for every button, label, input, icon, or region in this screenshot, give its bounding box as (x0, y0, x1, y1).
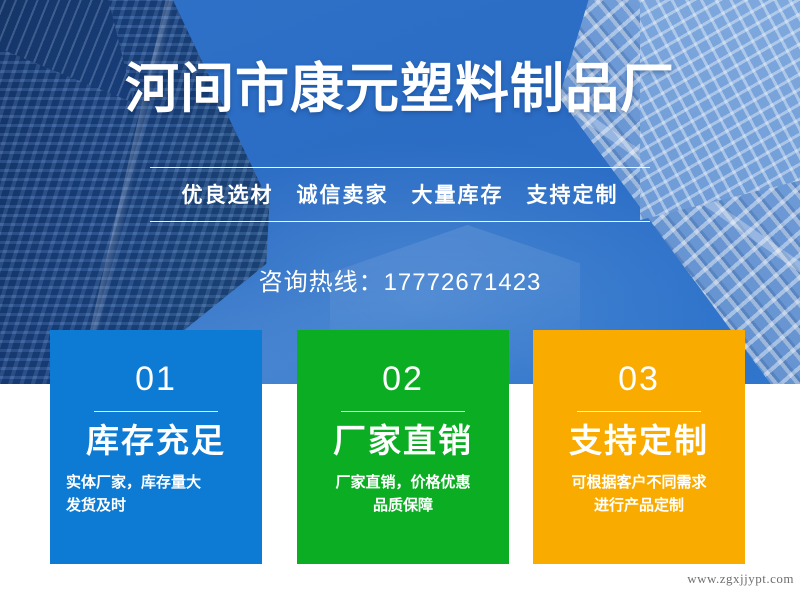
feature-card-divider (94, 411, 218, 412)
feature-card-description-line: 品质保障 (307, 494, 499, 517)
feature-card[interactable]: 01 库存充足 实体厂家，库存量大 发货及时 (50, 330, 262, 564)
feature-card-description-line: 进行产品定制 (543, 494, 735, 517)
feature-card-divider (577, 411, 701, 412)
feature-card-description-line: 可根据客户不同需求 (543, 471, 735, 494)
feature-card-description-line: 发货及时 (66, 494, 252, 517)
feature-card-description: 实体厂家，库存量大 发货及时 (50, 471, 262, 518)
feature-card-description-line: 实体厂家，库存量大 (66, 471, 252, 494)
feature-card-number: 01 (50, 362, 262, 396)
feature-card-description-line: 厂家直销，价格优惠 (307, 471, 499, 494)
feature-card-divider (341, 411, 465, 412)
feature-card-description: 厂家直销，价格优惠 品质保障 (297, 471, 509, 518)
site-watermark: www.zgxjjypt.com (687, 571, 794, 587)
feature-card[interactable]: 03 支持定制 可根据客户不同需求 进行产品定制 (533, 330, 745, 564)
feature-card-heading: 库存充足 (50, 422, 262, 461)
feature-card-list: 01 库存充足 实体厂家，库存量大 发货及时 02 厂家直销 厂家直销，价格优惠… (0, 0, 800, 597)
feature-card-number: 03 (533, 362, 745, 396)
feature-card-description: 可根据客户不同需求 进行产品定制 (533, 471, 745, 518)
feature-card-heading: 支持定制 (533, 422, 745, 461)
promo-banner: 河间市康元塑料制品厂 优良选材 诚信卖家 大量库存 支持定制 咨询热线：1777… (0, 0, 800, 597)
feature-card-number: 02 (297, 362, 509, 396)
feature-card[interactable]: 02 厂家直销 厂家直销，价格优惠 品质保障 (297, 330, 509, 564)
feature-card-heading: 厂家直销 (297, 422, 509, 461)
